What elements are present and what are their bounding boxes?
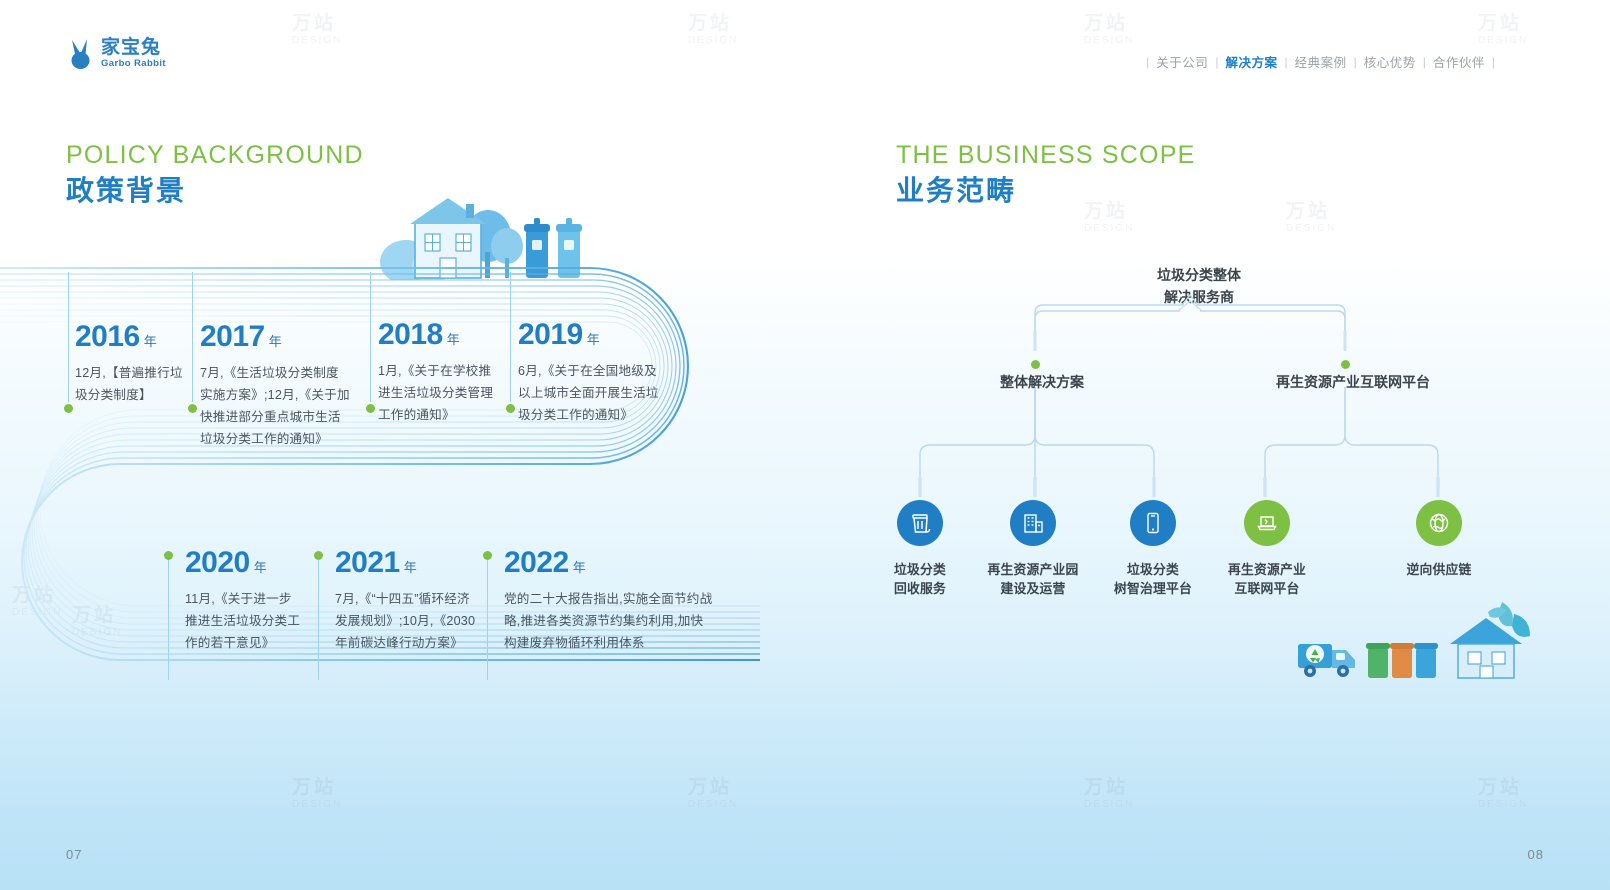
watermark: 万站DESIGN bbox=[292, 8, 342, 46]
watermark: 万站DESIGN bbox=[688, 772, 738, 810]
watermark: 万站DESIGN bbox=[1478, 8, 1528, 46]
service-label-line1: 再生资源产业 bbox=[1192, 560, 1342, 579]
timeline-item-2018: 2018年 1月,《关于在学校推进生活垃圾分类管理工作的通知》 bbox=[378, 320, 500, 426]
timeline-description: 党的二十大报告指出,实施全面节约战略,推进各类资源节约集约利用,加快构建废弃物循… bbox=[504, 588, 716, 654]
timeline-dot bbox=[164, 551, 173, 560]
timeline-year: 2017年 bbox=[200, 322, 350, 352]
nav-item-cases[interactable]: 经典案例 bbox=[1295, 52, 1347, 71]
timeline-year: 2020年 bbox=[185, 548, 303, 578]
timeline-description: 6月,《关于在全国地级及以上城市全面开展生活垃圾分类工作的通知》 bbox=[518, 360, 668, 426]
timeline-stem bbox=[370, 272, 371, 402]
timeline-year: 2021年 bbox=[335, 548, 477, 578]
timeline-stem bbox=[318, 560, 319, 680]
timeline-description: 12月,【普遍推行垃圾分类制度】 bbox=[75, 362, 187, 406]
nav-item-solutions[interactable]: 解决方案 bbox=[1225, 52, 1277, 71]
timeline-item-2019: 2019年 6月,《关于在全国地级及以上城市全面开展生活垃圾分类工作的通知》 bbox=[518, 320, 668, 426]
nav-separator: | bbox=[1208, 55, 1225, 69]
nav-item-advantage[interactable]: 核心优势 bbox=[1364, 52, 1416, 71]
timeline-year: 2022年 bbox=[504, 548, 716, 578]
top-navigation[interactable]: | 关于公司 | 解决方案 | 经典案例 | 核心优势 | 合作伙伴 | bbox=[1139, 52, 1502, 71]
org-branch-label-solution: 整体解决方案 bbox=[1000, 372, 1084, 392]
section-title-cn: 政策背景 bbox=[66, 176, 364, 207]
nav-item-partners[interactable]: 合作伙伴 bbox=[1433, 52, 1485, 71]
section-heading-policy: POLICY BACKGROUND 政策背景 bbox=[66, 142, 364, 206]
service-card-reverse-supply-chain[interactable]: 逆向供应链 bbox=[1364, 500, 1514, 579]
timeline-stem bbox=[510, 272, 511, 402]
timeline-item-2017: 2017年 7月,《生活垃圾分类制度实施方案》;12月,《关于加快推进部分重点城… bbox=[200, 322, 350, 450]
service-card-internet-platform[interactable]: 再生资源产业 互联网平台 bbox=[1192, 500, 1342, 598]
timeline-year: 2018年 bbox=[378, 320, 500, 350]
slide-page: 万站DESIGN 万站DESIGN 万站DESIGN 万站DESIGN 万站DE… bbox=[0, 0, 1610, 890]
timeline-item-2022: 2022年 党的二十大报告指出,实施全面节约战略,推进各类资源节约集约利用,加快… bbox=[504, 548, 716, 654]
page-number-right: 08 bbox=[1528, 847, 1544, 862]
watermark: 万站DESIGN bbox=[1084, 772, 1134, 810]
timeline-item-2021: 2021年 7月,《“十四五”循环经济发展规划》;10月,《2030年前碳达峰行… bbox=[335, 548, 477, 654]
rabbit-logo-icon bbox=[66, 38, 94, 68]
timeline-stem bbox=[487, 560, 488, 680]
timeline-item-2020: 2020年 11月,《关于进一步推进生活垃圾分类工作的若干意见》 bbox=[185, 548, 303, 654]
org-chart-connectors bbox=[880, 255, 1580, 515]
timeline-stem bbox=[68, 272, 69, 402]
page-number-left: 07 bbox=[66, 847, 82, 862]
timeline-year: 2016年 bbox=[75, 322, 187, 352]
timeline-dot bbox=[188, 404, 197, 413]
brand-name-en: Garbo Rabbit bbox=[101, 59, 166, 69]
org-branch-dot bbox=[1031, 360, 1040, 369]
section-heading-business: THE BUSINESS SCOPE 业务范畴 bbox=[896, 142, 1195, 206]
timeline-stem bbox=[168, 560, 169, 680]
service-label-line2: 互联网平台 bbox=[1192, 579, 1342, 598]
timeline-description: 7月,《生活垃圾分类制度实施方案》;12月,《关于加快推进部分重点城市生活垃圾分… bbox=[200, 362, 350, 450]
org-branch-label-platform: 再生资源产业互联网平台 bbox=[1276, 372, 1430, 392]
building-icon bbox=[1010, 500, 1056, 546]
nav-separator: | bbox=[1416, 55, 1433, 69]
timeline-dot bbox=[366, 404, 375, 413]
section-title-cn: 业务范畴 bbox=[896, 176, 1195, 207]
section-title-en: POLICY BACKGROUND bbox=[66, 142, 364, 170]
watermark: 万站DESIGN bbox=[1084, 8, 1134, 46]
watermark: 万站DESIGN bbox=[688, 8, 738, 46]
watermark: 万站DESIGN bbox=[292, 772, 342, 810]
nav-separator: | bbox=[1277, 55, 1294, 69]
brand-logo[interactable]: 家宝兔 Garbo Rabbit bbox=[66, 38, 166, 69]
timeline-year: 2019年 bbox=[518, 320, 668, 350]
watermark: 万站DESIGN bbox=[1286, 196, 1336, 234]
timeline-dot bbox=[483, 551, 492, 560]
timeline-stem bbox=[192, 272, 193, 402]
org-branch-dot bbox=[1341, 360, 1350, 369]
globe-icon bbox=[1416, 500, 1462, 546]
nav-separator: | bbox=[1485, 55, 1502, 69]
nav-separator: | bbox=[1139, 55, 1156, 69]
service-label: 逆向供应链 bbox=[1364, 560, 1514, 579]
recycling-scene-illustration bbox=[1290, 600, 1550, 695]
laptop-icon bbox=[1244, 500, 1290, 546]
timeline-dot bbox=[314, 551, 323, 560]
trash-bin-icon bbox=[897, 500, 943, 546]
nav-item-about[interactable]: 关于公司 bbox=[1156, 52, 1208, 71]
timeline-item-2016: 2016年 12月,【普遍推行垃圾分类制度】 bbox=[75, 322, 187, 406]
mobile-phone-icon bbox=[1130, 500, 1176, 546]
timeline-description: 1月,《关于在学校推进生活垃圾分类管理工作的通知》 bbox=[378, 360, 500, 426]
timeline-dot bbox=[64, 404, 73, 413]
nav-separator: | bbox=[1347, 55, 1364, 69]
timeline-description: 11月,《关于进一步推进生活垃圾分类工作的若干意见》 bbox=[185, 588, 303, 654]
watermark: 万站DESIGN bbox=[1478, 772, 1528, 810]
section-title-en: THE BUSINESS SCOPE bbox=[896, 142, 1195, 170]
brand-name-cn: 家宝兔 bbox=[101, 38, 166, 57]
service-label: 再生资源产业 互联网平台 bbox=[1192, 560, 1342, 598]
service-label-line1: 逆向供应链 bbox=[1364, 560, 1514, 579]
timeline-description: 7月,《“十四五”循环经济发展规划》;10月,《2030年前碳达峰行动方案》 bbox=[335, 588, 477, 654]
timeline-dot bbox=[506, 404, 515, 413]
